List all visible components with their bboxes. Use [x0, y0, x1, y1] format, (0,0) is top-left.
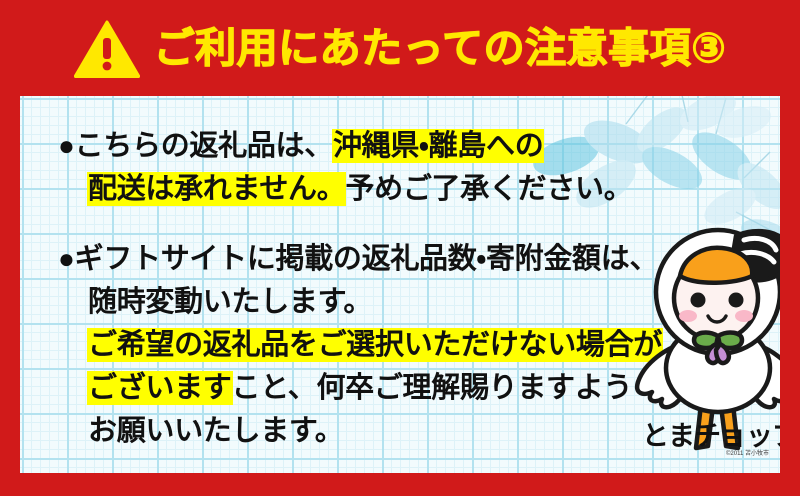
notice-text-highlighted: 配送は承れません。 [88, 173, 345, 205]
notice-text-body: ●こちらの返礼品は、沖縄県・離島への 配送は承れません。予めご了承ください。 ●… [58, 124, 658, 453]
notice-text: お願いいたします。 [88, 415, 343, 447]
notice-line: ございますこと、何卒ご理解賜りますよう [58, 367, 658, 410]
warning-triangle-icon [74, 20, 140, 78]
bullet-icon: ● [58, 243, 75, 274]
notice-text-highlighted: 沖縄県・離島への [333, 130, 543, 162]
grid-paper-panel: ●こちらの返礼品は、沖縄県・離島への 配送は承れません。予めご了承ください。 ●… [20, 96, 780, 473]
notice-text-highlighted: ございます [88, 372, 232, 404]
notice-item: ●こちらの返礼品は、沖縄県・離島への 配送は承れません。予めご了承ください。 [58, 124, 658, 211]
notice-line: 配送は承れません。予めご了承ください。 [58, 168, 658, 211]
page-title: ご利用にあたっての注意事項③ [154, 28, 727, 69]
notice-card: ご利用にあたっての注意事項③ [0, 0, 800, 496]
notice-text: ギフトサイトに掲載の返礼品数・寄附金額は、 [75, 243, 659, 275]
notice-line: 随時変動いたします。 [58, 281, 658, 324]
notice-text: 随時変動いたします。 [88, 286, 372, 318]
notice-item: ●ギフトサイトに掲載の返礼品数・寄附金額は、 随時変動いたします。 ご希望の返礼… [58, 237, 658, 453]
notice-text: こちらの返礼品は、 [75, 130, 333, 162]
notice-header: ご利用にあたっての注意事項③ [0, 0, 800, 96]
notice-text-highlighted: ご希望の返礼品をご選択いただけない場合が [88, 329, 662, 361]
bullet-icon: ● [58, 130, 75, 161]
mascot-copyright-label: ©2011 苫小牧市 [726, 448, 769, 457]
notice-line: ●ギフトサイトに掲載の返礼品数・寄附金額は、 [58, 237, 658, 281]
notice-line: お願いいたします。 [58, 410, 658, 453]
notice-text: 予めご了承ください。 [345, 173, 632, 205]
notice-line: ご希望の返礼品をご選択いただけない場合が [58, 324, 658, 367]
notice-text: こと、何卒ご理解賜りますよう [232, 372, 633, 404]
notice-line: ●こちらの返礼品は、沖縄県・離島への [58, 124, 658, 168]
